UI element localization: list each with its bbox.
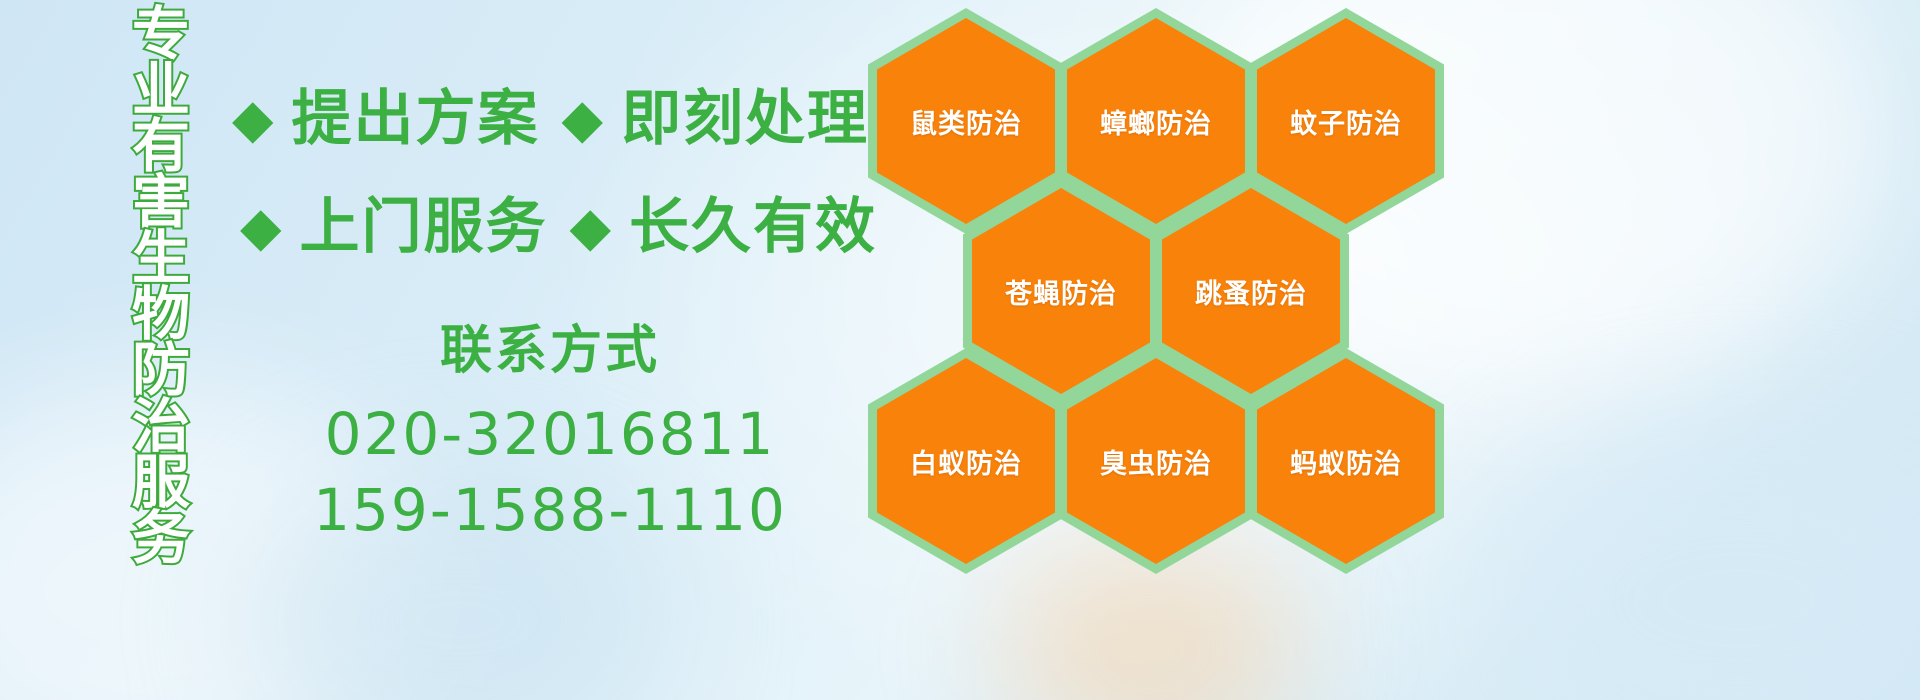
feature-label-immediate-handling: 即刻处理 — [621, 88, 869, 150]
phone-number-mobile[interactable]: 159-1588-1110 — [240, 472, 860, 548]
feature-label-long-lasting: 长久有效 — [629, 196, 877, 258]
diamond-bullet-icon: ◆ — [232, 92, 274, 146]
diamond-bullet-icon: ◆ — [570, 200, 612, 254]
vertical-title: 专 业 有 害 生 物 防 治 服 务 — [105, 6, 217, 566]
hex-label: 臭虫防治 — [1058, 348, 1254, 574]
hex-cell-ant[interactable]: 蚂蚁防治 — [1248, 348, 1444, 574]
vertical-title-char: 务 — [132, 510, 190, 566]
background-blob — [1480, 420, 1920, 700]
diamond-bullet-icon: ◆ — [562, 92, 604, 146]
contact-label: 联系方式 — [240, 318, 860, 384]
feature-label-propose-plan: 提出方案 — [292, 88, 540, 150]
hex-label: 蚂蚁防治 — [1248, 348, 1444, 574]
feature-row-2: ◆ 上门服务 ◆ 长久有效 — [240, 196, 877, 258]
vertical-title-char: 害 — [132, 174, 190, 230]
vertical-title-char: 物 — [132, 286, 190, 342]
vertical-title-char: 治 — [132, 398, 190, 454]
diamond-bullet-icon: ◆ — [240, 200, 282, 254]
phone-number-landline[interactable]: 020-32016811 — [240, 396, 860, 472]
vertical-title-char: 防 — [132, 342, 190, 398]
hex-cell-termite[interactable]: 白蚁防治 — [868, 348, 1064, 574]
hex-label: 白蚁防治 — [868, 348, 1064, 574]
hex-cell-bedbug[interactable]: 臭虫防治 — [1058, 348, 1254, 574]
vertical-title-char: 服 — [132, 454, 190, 510]
vertical-title-char: 有 — [132, 118, 190, 174]
pest-control-banner: 专 业 有 害 生 物 防 治 服 务 ◆ 提出方案 ◆ 即刻处理 ◆ 上门服务… — [0, 0, 1920, 700]
vertical-title-char: 专 — [132, 6, 190, 62]
feature-label-onsite-service: 上门服务 — [300, 196, 548, 258]
feature-row-1: ◆ 提出方案 ◆ 即刻处理 — [232, 88, 869, 150]
service-honeycomb: 鼠类防治 蟑螂防治 蚊子防治 苍蝇防治 跳蚤防治 白蚁防治 — [862, 0, 1462, 580]
vertical-title-char: 生 — [132, 230, 190, 286]
contact-block: 联系方式 020-32016811 159-1588-1110 — [240, 318, 860, 548]
vertical-title-char: 业 — [132, 62, 190, 118]
